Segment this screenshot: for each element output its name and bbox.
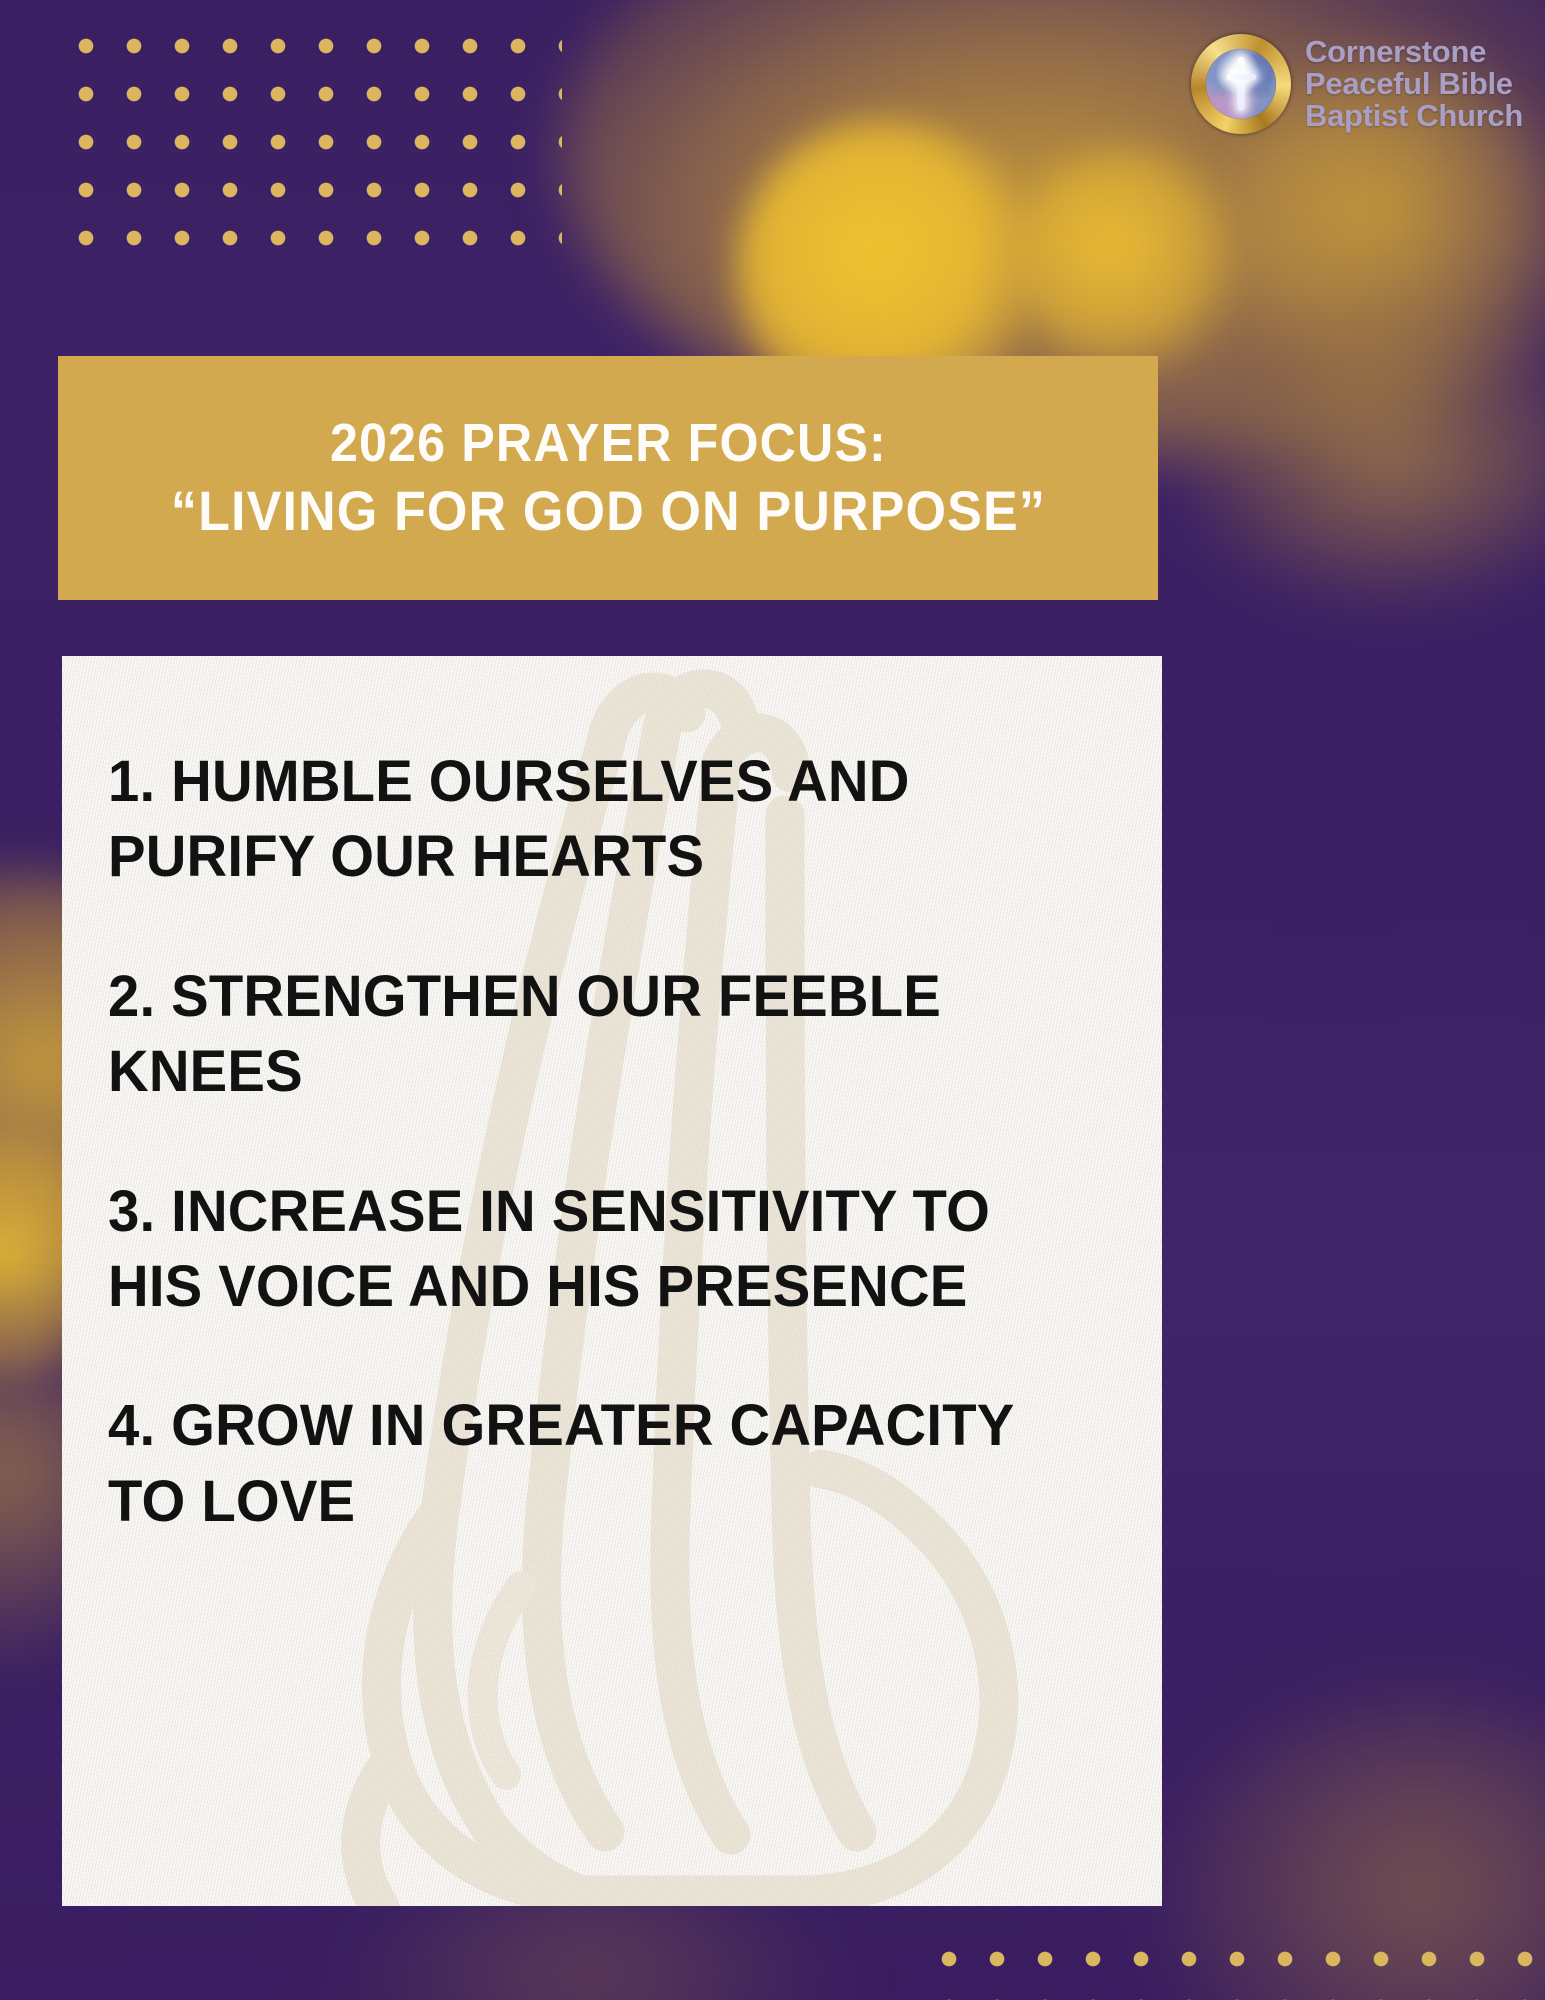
globe-icon: [1206, 49, 1276, 119]
brand-logo: Cornerstone Peaceful Bible Baptist Churc…: [1191, 34, 1523, 134]
brand-name-line-3: Baptist Church: [1305, 100, 1523, 132]
brand-name: Cornerstone Peaceful Bible Baptist Churc…: [1305, 34, 1523, 133]
brand-name-line-2: Peaceful Bible: [1305, 68, 1523, 100]
banner-title-line-1: 2026 PRAYER FOCUS:: [330, 413, 887, 473]
prayer-points-card: 1. HUMBLE OURSELVES AND PURIFY OUR HEART…: [62, 656, 1162, 1906]
gold-dot-grid-icon-top: [62, 22, 562, 262]
list-item: 3. INCREASE IN SENSITIVITY TO HIS VOICE …: [108, 1174, 1086, 1325]
gold-dot-grid-icon-bottom: [925, 1935, 1545, 2000]
prayer-focus-poster: Cornerstone Peaceful Bible Baptist Churc…: [0, 0, 1545, 2000]
church-seal-globe-cross-icon: [1191, 34, 1291, 134]
list-item: 4. GROW IN GREATER CAPACITY TO LOVE: [108, 1388, 1086, 1539]
brand-name-line-1: Cornerstone: [1305, 36, 1523, 68]
list-item: 1. HUMBLE OURSELVES AND PURIFY OUR HEART…: [108, 744, 1086, 895]
prayer-points-list: 1. HUMBLE OURSELVES AND PURIFY OUR HEART…: [62, 656, 1162, 1906]
banner-title-line-2: “LIVING FOR GOD ON PURPOSE”: [170, 480, 1045, 543]
cross-icon: [1238, 57, 1245, 111]
list-item: 2. STRENGTHEN OUR FEEBLE KNEES: [108, 959, 1086, 1110]
title-banner: 2026 PRAYER FOCUS: “LIVING FOR GOD ON PU…: [58, 356, 1158, 600]
